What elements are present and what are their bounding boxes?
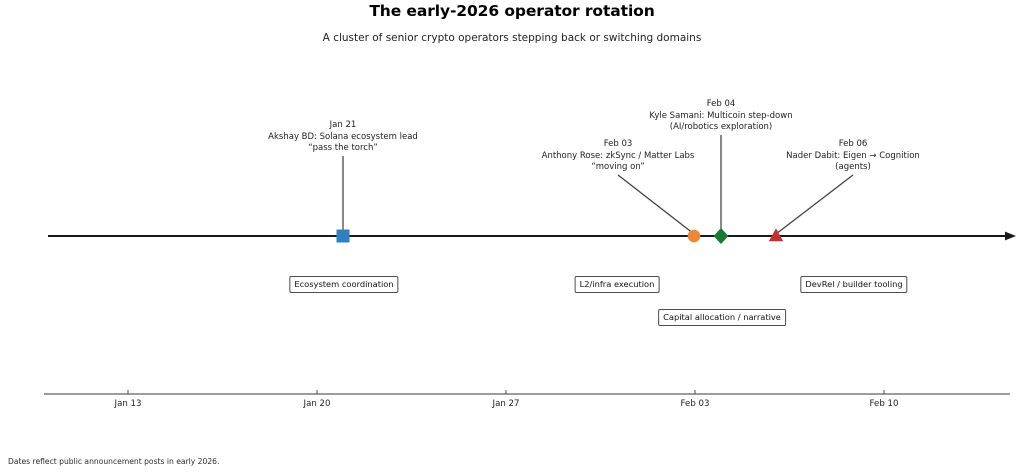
event-date: Feb 03 (542, 139, 695, 151)
event-date: Feb 04 (649, 99, 792, 111)
chart-subtitle: A cluster of senior crypto operators ste… (0, 32, 1024, 44)
timeline-axis (48, 232, 1016, 241)
event-annotation: Feb 04Kyle Samani: Multicoin step-down(A… (649, 99, 792, 134)
timeline-arrowhead (1005, 232, 1016, 241)
event-quote: (agents) (786, 162, 920, 174)
tick-label: Jan 20 (304, 399, 331, 409)
marker-square[interactable] (337, 230, 350, 243)
event-quote: “moving on” (542, 162, 695, 174)
event-person: Nader Dabit: Eigen → Cognition (786, 151, 920, 163)
category-badge: Capital allocation / narrative (658, 309, 786, 326)
category-badge: DevRel / builder tooling (800, 276, 907, 293)
tick-label: Feb 10 (870, 399, 899, 409)
footnote: Dates reflect public announcement posts … (8, 457, 219, 466)
timeline-figure: The early-2026 operator rotation A clust… (0, 0, 1024, 473)
event-annotation: Feb 06Nader Dabit: Eigen → Cognition(age… (786, 139, 920, 174)
event-person: Akshay BD: Solana ecosystem lead (268, 132, 418, 144)
event-quote: (AI/robotics exploration) (649, 122, 792, 134)
date-ruler (44, 390, 1010, 394)
event-date: Jan 21 (268, 120, 418, 132)
event-date: Feb 06 (786, 139, 920, 151)
marker-diamond[interactable] (714, 228, 729, 244)
event-quote: “pass the torch” (268, 143, 418, 155)
tick-label: Jan 27 (493, 399, 520, 409)
event-markers (337, 228, 784, 244)
chart-title: The early-2026 operator rotation (0, 2, 1024, 20)
marker-circle[interactable] (688, 230, 701, 243)
category-badge: Ecosystem coordination (289, 276, 398, 293)
tick-label: Feb 03 (681, 399, 710, 409)
marker-triangle[interactable] (769, 228, 783, 241)
category-badge: L2/infra execution (575, 276, 660, 293)
event-annotation: Jan 21Akshay BD: Solana ecosystem lead“p… (268, 120, 418, 155)
event-annotation: Feb 03Anthony Rose: zkSync / Matter Labs… (542, 139, 695, 174)
event-person: Kyle Samani: Multicoin step-down (649, 111, 792, 123)
event-person: Anthony Rose: zkSync / Matter Labs (542, 151, 695, 163)
tick-label: Jan 13 (115, 399, 142, 409)
